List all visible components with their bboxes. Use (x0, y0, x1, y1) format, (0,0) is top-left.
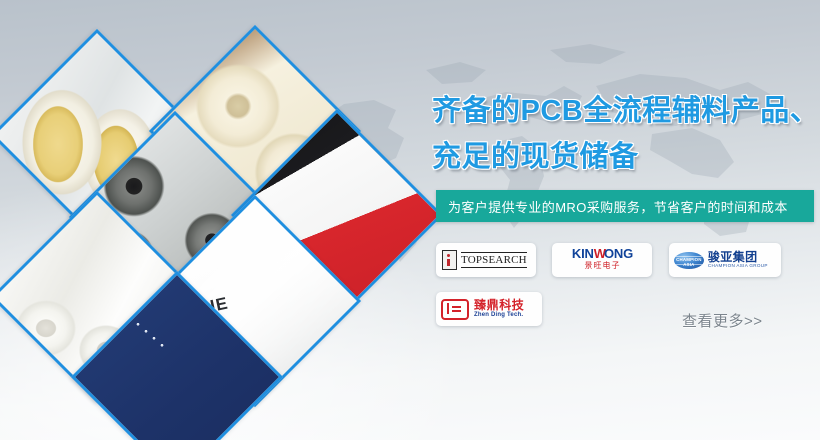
client-logo-row-1: TOPSEARCH KINWONG 景旺电子 CHAMPION ASIA 骏亚集… (436, 243, 793, 277)
client-logo-row-2: 臻鼎科技 Zhen Ding Tech. (436, 292, 554, 326)
topsearch-label: TOPSEARCH (461, 252, 527, 268)
champion-cn-label: 骏亚集团 (708, 252, 768, 263)
view-more-link[interactable]: 查看更多>> (682, 310, 763, 331)
client-logo-kinwong[interactable]: KINWONG 景旺电子 (552, 243, 652, 277)
client-logo-zhen-ding-tech[interactable]: 臻鼎科技 Zhen Ding Tech. (436, 292, 542, 326)
page-title: 齐备的PCB全流程辅料产品、 充足的现货储备 (432, 88, 820, 180)
kinwong-en-part1: KIN (572, 246, 594, 261)
kinwong-cn-label: 景旺电子 (552, 261, 652, 271)
globe-label: CHAMPION ASIA (674, 257, 704, 267)
banner-content: 齐备的PCB全流程辅料产品、 充足的现货储备 为客户提供专业的MRO采购服务，节… (420, 0, 820, 440)
subtitle-bar: 为客户提供专业的MRO采购服务，节省客户的时间和成本 (436, 190, 814, 222)
kinwong-en-part2: ONG (604, 246, 633, 261)
subtitle-text: 为客户提供专业的MRO采购服务，节省客户的时间和成本 (436, 197, 788, 216)
champion-en-label: CHAMPION ASIA GROUP (708, 263, 768, 269)
zhending-cn-label: 臻鼎科技 (474, 300, 524, 311)
zhending-mark-icon (441, 299, 469, 320)
kinwong-en-label: KINWONG (552, 247, 652, 260)
promo-banner: JIE 齐备的PCB全流程辅料产品、 充足的现货储备 为客户提供专业的MRO采购… (0, 0, 820, 440)
zhending-en-label: Zhen Ding Tech. (474, 311, 524, 319)
client-logo-champion-asia[interactable]: CHAMPION ASIA 骏亚集团 CHAMPION ASIA GROUP (669, 243, 781, 277)
kinwong-w-mark-icon: W (594, 246, 604, 261)
topsearch-mark-icon (442, 250, 457, 270)
globe-icon: CHAMPION ASIA (674, 252, 704, 269)
product-image-collage: JIE (0, 0, 440, 440)
client-logo-topsearch[interactable]: TOPSEARCH (436, 243, 536, 277)
